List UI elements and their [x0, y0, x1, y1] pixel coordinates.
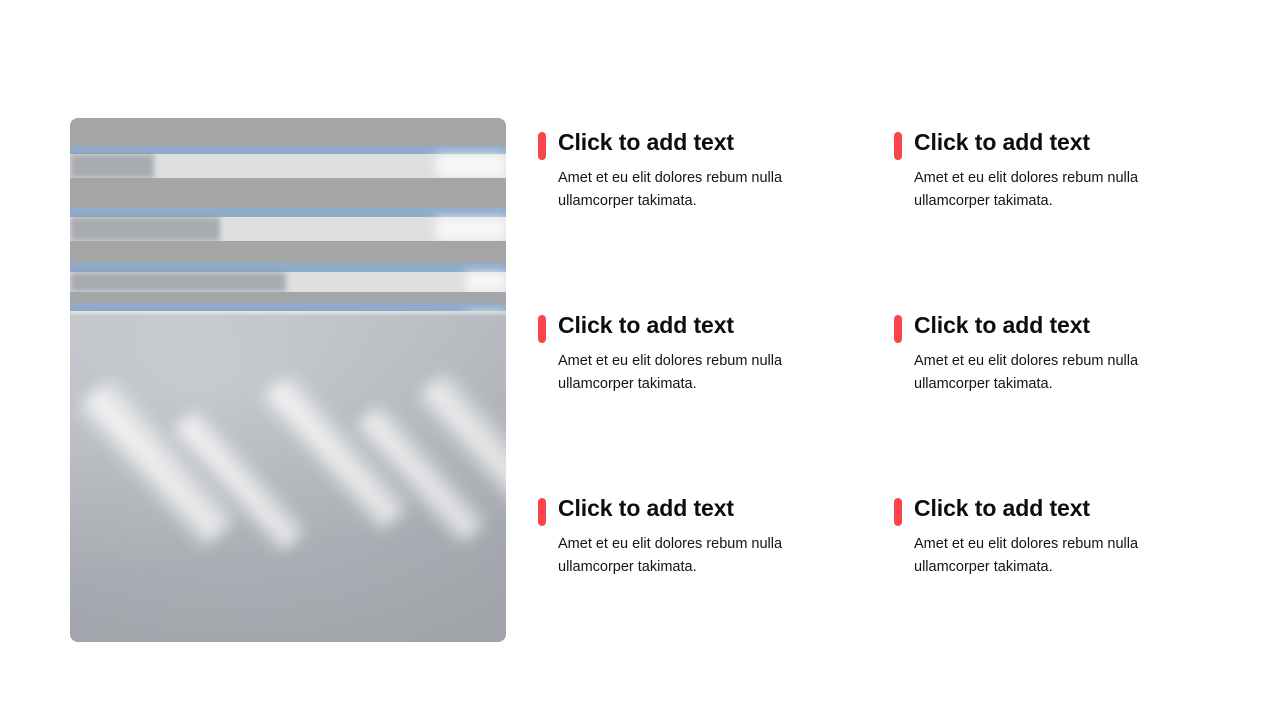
blind-band	[70, 241, 506, 263]
text-block-body[interactable]: Amet et eu elit dolores rebum nulla ulla…	[914, 533, 1184, 579]
accent-bar-icon	[894, 132, 902, 160]
blind-band	[70, 208, 506, 217]
text-block[interactable]: Click to add textAmet et eu elit dolores…	[894, 311, 1228, 494]
blind-band-shadow	[70, 272, 286, 292]
blind-band-shadow	[70, 217, 220, 241]
blind-band	[70, 146, 506, 154]
accent-bar-icon	[894, 315, 902, 343]
blind-band	[70, 178, 506, 208]
window-blinds-graphic	[70, 118, 506, 314]
blind-band-glow	[436, 217, 506, 241]
blind-band	[70, 154, 506, 178]
image-placeholder[interactable]: Secondary title placeholder	[70, 118, 506, 642]
text-block-body[interactable]: Amet et eu elit dolores rebum nulla ulla…	[914, 350, 1184, 396]
accent-bar-icon	[538, 315, 546, 343]
blind-band-glow	[436, 154, 506, 178]
text-block[interactable]: Click to add textAmet et eu elit dolores…	[894, 128, 1228, 311]
text-blocks-grid: Click to add textAmet et eu elit dolores…	[538, 128, 1228, 588]
accent-bar-icon	[538, 498, 546, 526]
accent-bar-icon	[538, 132, 546, 160]
wall-vignette	[70, 311, 506, 642]
text-block[interactable]: Click to add textAmet et eu elit dolores…	[538, 128, 894, 311]
text-block-heading[interactable]: Click to add text	[914, 494, 1228, 522]
text-block-heading[interactable]: Click to add text	[558, 494, 894, 522]
blind-band-shadow	[70, 154, 154, 178]
wall-light-graphic	[70, 311, 506, 642]
text-block-heading[interactable]: Click to add text	[558, 311, 894, 339]
blind-band	[70, 272, 506, 292]
text-block[interactable]: Click to add textAmet et eu elit dolores…	[894, 494, 1228, 588]
text-block-heading[interactable]: Click to add text	[558, 128, 894, 156]
blind-band	[70, 263, 506, 272]
blind-band	[70, 292, 506, 303]
text-block-body[interactable]: Amet et eu elit dolores rebum nulla ulla…	[558, 167, 828, 213]
text-block-body[interactable]: Amet et eu elit dolores rebum nulla ulla…	[558, 533, 828, 579]
blind-band	[70, 217, 506, 241]
text-block-heading[interactable]: Click to add text	[914, 311, 1228, 339]
text-block[interactable]: Click to add textAmet et eu elit dolores…	[538, 311, 894, 494]
blind-band	[70, 118, 506, 146]
text-block[interactable]: Click to add textAmet et eu elit dolores…	[538, 494, 894, 588]
text-block-body[interactable]: Amet et eu elit dolores rebum nulla ulla…	[914, 167, 1184, 213]
blind-band-glow	[466, 272, 506, 292]
text-block-body[interactable]: Amet et eu elit dolores rebum nulla ulla…	[558, 350, 828, 396]
text-block-heading[interactable]: Click to add text	[914, 128, 1228, 156]
accent-bar-icon	[894, 498, 902, 526]
slide-canvas: Secondary title placeholder Click to add…	[0, 0, 1280, 720]
